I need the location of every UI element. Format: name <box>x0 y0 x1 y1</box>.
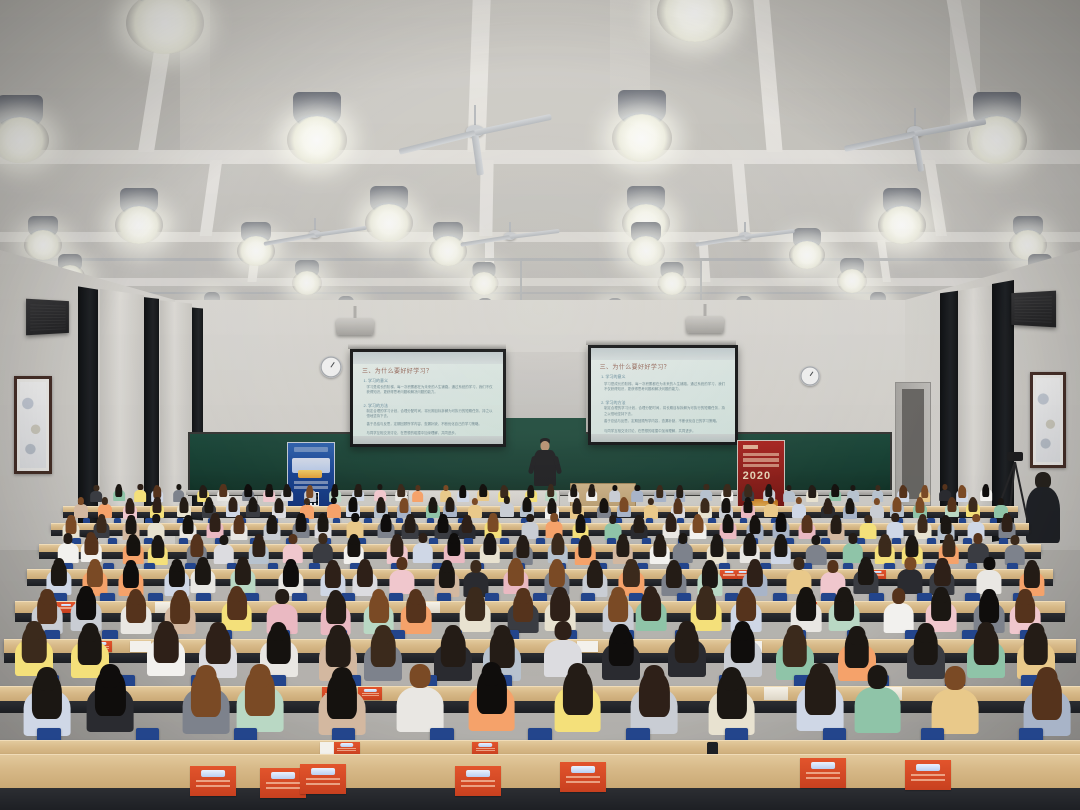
audience-head <box>230 497 236 504</box>
audience-head <box>250 497 256 504</box>
slide-paragraph: 制定合理的学习计划，合理分配时间，将长期目标拆解为可执行的短期任务，持之以恒地坚… <box>367 409 493 420</box>
audience-head <box>40 589 54 605</box>
audience-head <box>908 535 917 546</box>
audience-head <box>171 559 182 572</box>
audience-head <box>864 515 872 524</box>
slide-subtitle: 1. 学习的意义 <box>364 378 388 384</box>
audience-head <box>176 484 181 490</box>
audience-head <box>445 625 462 645</box>
audience-head <box>577 514 585 523</box>
audience-head <box>613 624 630 644</box>
audience-head <box>702 498 708 505</box>
wall-artwork-left <box>14 376 52 474</box>
audience-head <box>589 560 600 573</box>
audience-head <box>626 559 637 572</box>
audience-head <box>667 513 675 522</box>
audience-head <box>874 498 880 505</box>
audience-head <box>153 535 162 546</box>
desk-panel <box>0 701 1080 713</box>
audience-head <box>79 586 93 602</box>
audience-head <box>524 497 530 504</box>
audience-head <box>468 587 482 603</box>
audience-head <box>329 590 343 606</box>
audience-head <box>441 560 452 573</box>
slide-paragraph: 学习是成长的阶梯，每一次积累都在为未来的人生铺路。通过系统的学习，我们不仅获得知… <box>367 385 493 396</box>
slide-title: 三、为什么要好好学习？ <box>362 366 432 375</box>
event-flyer <box>190 766 236 796</box>
audience-head <box>548 484 553 490</box>
audience-head <box>409 589 423 605</box>
audience-head <box>891 513 899 522</box>
audience-head <box>901 485 906 491</box>
slide-right: 三、为什么要好好学习？ 1. 学习的意义 学习是成长的阶梯，每一次积累都在为未来… <box>591 348 735 442</box>
audience-head <box>699 586 713 602</box>
audience-head <box>221 484 226 490</box>
audience-head <box>601 498 607 505</box>
audience-head <box>837 587 851 603</box>
audience-head <box>848 533 857 544</box>
audience-head <box>284 484 289 490</box>
audience-head <box>799 587 813 603</box>
audience-head <box>359 559 370 572</box>
audience-head <box>418 533 427 544</box>
audience-head <box>644 665 665 689</box>
audience-head <box>250 664 271 688</box>
ceiling-fan <box>690 222 800 262</box>
audience-head <box>210 622 227 642</box>
audience-member <box>77 664 144 741</box>
audience-head <box>894 497 900 504</box>
audience-head <box>126 498 132 505</box>
audience-head <box>1037 667 1058 691</box>
audience-head <box>945 666 966 690</box>
audience-head <box>1019 589 1033 605</box>
ceiling-fan <box>395 105 555 165</box>
audience-head <box>138 484 143 490</box>
audience-head <box>949 497 955 504</box>
pendant-lamp <box>600 90 684 152</box>
audience-head <box>983 484 988 490</box>
audience-head <box>725 484 730 490</box>
pendant-lamp <box>868 188 936 240</box>
wall-artwork-right <box>1030 372 1066 468</box>
audience-head <box>1027 623 1044 643</box>
audience-head <box>644 586 658 602</box>
audience-head <box>267 484 272 490</box>
audience-head <box>880 534 889 545</box>
audience-head <box>825 498 831 505</box>
pendant-lamp <box>830 258 874 294</box>
desk-surface <box>0 686 1080 702</box>
audience-head <box>875 485 880 491</box>
audience-head <box>100 664 121 688</box>
audience-head <box>472 498 478 505</box>
lecture-hall-photo: 三、为什么要好好学习？ 1. 学习的意义 学习是成长的阶梯，每一次积累都在为未来… <box>0 0 1080 810</box>
audience-head <box>786 625 803 645</box>
audience-head <box>739 587 753 603</box>
audience-head <box>551 559 562 572</box>
audience-head <box>230 586 244 602</box>
audience-head <box>154 497 160 504</box>
audience-head <box>98 514 106 523</box>
audience-head <box>78 497 84 504</box>
audience-head <box>481 484 486 490</box>
audience-head <box>181 497 187 504</box>
audience-head <box>481 662 502 686</box>
slide-section: 2. 学习的方法 <box>364 403 388 409</box>
audience-head <box>158 621 175 641</box>
audience-head <box>704 484 709 490</box>
audience-head <box>810 663 831 687</box>
audience-head <box>430 497 436 504</box>
audience-head <box>778 513 786 522</box>
audience-head <box>304 498 310 505</box>
audience-member <box>844 665 911 742</box>
audience-head <box>372 589 386 605</box>
chalkboard-center-strip <box>500 418 586 434</box>
audience-head <box>745 497 751 504</box>
audience-head <box>352 513 360 522</box>
slide-paragraph: 善于总结与反思，定期回顾所学内容，查漏补缺，不断优化自己的学习策略。 <box>367 422 493 427</box>
banner-year: 2020 <box>743 470 771 482</box>
slide-title: 三、为什么要好好学习？ <box>600 362 670 371</box>
audience-head <box>796 497 802 504</box>
audience-head <box>236 515 244 524</box>
audience-head <box>850 485 855 491</box>
audience-head <box>922 485 927 491</box>
audience-head <box>219 535 228 546</box>
projection-screen-right: 三、为什么要好好学习？ 1. 学习的意义 学习是成长的阶梯，每一次积累都在为未来… <box>588 345 738 445</box>
audience-head <box>750 559 761 572</box>
audience-head <box>982 589 996 605</box>
audience-head <box>440 514 448 523</box>
audience-head <box>463 515 471 524</box>
pendant-lamp <box>285 260 329 296</box>
pendant-lamp <box>462 262 506 298</box>
audience-head <box>786 485 791 491</box>
audience-head <box>621 497 627 504</box>
wall-clock-left <box>320 356 342 378</box>
audience-head <box>998 498 1004 505</box>
audience-head <box>26 621 43 641</box>
audience-head <box>396 557 407 570</box>
audience-head <box>246 484 251 490</box>
audience-head <box>212 513 220 522</box>
audience-head <box>297 513 305 522</box>
audience-head <box>751 515 759 524</box>
audience-head <box>745 533 754 544</box>
projection-screen-left: 三、为什么要好好学习？ 1. 学习的意义 学习是成长的阶梯，每一次积累都在为未来… <box>350 349 506 447</box>
audience-head <box>581 535 590 546</box>
slide-paragraph: 善于总结与反思，定期回顾所学内容，查漏补缺，不断优化自己的学习策略。 <box>604 419 725 424</box>
audience-head <box>974 533 983 544</box>
audience-head <box>125 560 136 573</box>
audience-head <box>812 535 821 546</box>
audience-head <box>724 514 732 523</box>
audience-head <box>669 560 680 573</box>
audience-head <box>517 588 531 604</box>
ceiling-projector-right <box>686 316 724 333</box>
audience-head <box>721 667 742 691</box>
audience-head <box>318 533 327 544</box>
audience-head <box>567 663 588 687</box>
audience-head <box>618 534 627 545</box>
audience-head <box>401 498 407 505</box>
audience-head <box>678 533 687 544</box>
pendant-lamp <box>650 262 694 298</box>
audience-head <box>450 533 459 544</box>
wall-speaker-left <box>26 299 69 336</box>
audience-head <box>254 534 263 545</box>
audience-head <box>195 665 216 689</box>
desk-row <box>0 686 1080 721</box>
audience-head <box>917 497 923 504</box>
audience-head <box>127 515 135 524</box>
audience-head <box>554 587 568 603</box>
audience-head <box>944 534 953 545</box>
audience-head <box>675 498 681 505</box>
audience-head <box>350 497 356 504</box>
ceiling-fan <box>840 108 990 164</box>
audience-head <box>489 513 497 522</box>
audience-head <box>67 515 75 524</box>
pendant-lamp <box>105 188 173 240</box>
event-flyer <box>800 758 846 788</box>
slide-paragraph: 制定合理的学习计划，合理分配时间，将长期目标拆解为可执行的短期任务，持之以恒地坚… <box>604 406 725 417</box>
audience-head <box>470 560 481 573</box>
audience-head <box>793 557 804 570</box>
ceiling-fan <box>455 222 565 262</box>
audience-head <box>892 588 906 604</box>
audience-head <box>528 485 533 491</box>
audience-head <box>206 497 212 504</box>
audience-head <box>847 498 853 505</box>
audience-head <box>848 626 865 646</box>
audience-head <box>443 485 448 491</box>
audience-head <box>268 515 276 524</box>
audience-head <box>609 515 617 524</box>
ceiling-fan <box>260 218 370 258</box>
audience-head <box>527 514 535 523</box>
audience-head <box>549 498 555 505</box>
pendant-lamp <box>275 92 359 154</box>
audience-torso <box>397 687 444 733</box>
audience-head <box>766 484 771 490</box>
audience-head <box>647 498 653 505</box>
pendant-lamp <box>618 222 674 266</box>
audience-head <box>635 515 643 524</box>
slide-left: 三、为什么要好好学习？ 1. 学习的意义 学习是成长的阶梯，每一次积累都在为未来… <box>353 352 503 444</box>
audience-head <box>917 623 934 643</box>
audience-head <box>198 557 209 570</box>
audience-head <box>919 514 927 523</box>
audience-head <box>410 664 431 688</box>
audience-head <box>383 514 391 523</box>
audience-head <box>550 513 558 522</box>
audience-head <box>984 557 995 570</box>
audience-head <box>275 589 289 605</box>
ceiling-conduit <box>0 292 1080 294</box>
wall-speaker-right <box>1011 291 1056 328</box>
audience-head <box>694 514 702 523</box>
pendant-lamp <box>0 95 60 155</box>
audience-member <box>544 663 611 740</box>
event-flyer <box>455 766 501 796</box>
audience-head <box>574 498 580 505</box>
audience-head <box>447 497 453 504</box>
audience-head <box>723 498 729 505</box>
audience-head <box>94 485 99 491</box>
audience-head <box>827 560 838 573</box>
audience-head <box>349 534 358 545</box>
audience-head <box>1003 513 1011 522</box>
pendant-lamp <box>640 0 750 52</box>
audience-head <box>867 665 888 689</box>
event-flyer <box>905 760 951 790</box>
audience-head <box>152 514 160 523</box>
audience-head <box>503 496 509 503</box>
audience-head <box>288 534 297 545</box>
audience-head <box>553 533 562 544</box>
audience-head <box>502 485 507 491</box>
audience-head <box>415 485 420 491</box>
audience-head <box>832 515 840 524</box>
audience-head <box>319 513 327 522</box>
audience-head <box>332 484 337 490</box>
audience-head <box>978 622 995 642</box>
audience-head <box>276 498 282 505</box>
audience-head <box>937 558 948 571</box>
audience-head <box>330 497 336 504</box>
audience-head <box>589 484 594 490</box>
audience-head <box>81 623 98 643</box>
audience-head <box>810 485 815 491</box>
audience-head <box>905 557 916 570</box>
audience-head <box>571 484 576 490</box>
audience-head <box>393 534 402 545</box>
audience-head <box>102 497 108 504</box>
audience-head <box>485 533 494 544</box>
audience-head <box>356 484 361 490</box>
audience-head <box>286 559 297 572</box>
notebook <box>764 687 788 700</box>
desk-panel <box>0 788 1080 810</box>
audience-head <box>399 484 404 490</box>
audience-head <box>635 485 640 491</box>
audience-head <box>678 621 695 641</box>
audience-torso <box>854 687 901 733</box>
audience-head <box>238 557 249 570</box>
audience-head <box>942 484 947 490</box>
audience-head <box>712 534 721 545</box>
audience-head <box>734 621 751 641</box>
audience-head <box>1026 560 1037 573</box>
audience-head <box>494 625 511 645</box>
audience-head <box>746 484 751 490</box>
audience-head <box>554 621 571 641</box>
wall-clock-right <box>800 366 820 386</box>
audience-head <box>833 484 838 490</box>
audience-head <box>934 587 948 603</box>
audience-head <box>192 534 201 545</box>
ceiling-conduit-drop <box>700 258 702 306</box>
audience-head <box>307 485 312 491</box>
audience-head <box>612 485 617 491</box>
audience-head <box>803 515 811 524</box>
ceiling-projector-left <box>336 318 374 335</box>
audience-head <box>860 557 871 570</box>
slide-subtitle: 1. 学习的意义 <box>601 374 625 380</box>
audience-head <box>460 485 465 491</box>
audience-head <box>330 625 347 645</box>
slide-paragraph: 学习是成长的阶梯，每一次积累都在为未来的人生铺路。通过系统的学习，我们不仅获得知… <box>604 382 725 393</box>
audience-head <box>53 558 64 571</box>
audience-head <box>377 497 383 504</box>
audience-head <box>116 484 121 490</box>
audience-head <box>37 667 58 691</box>
audience-head <box>969 497 975 504</box>
audience-head <box>173 590 187 606</box>
audience-head <box>184 515 192 524</box>
audience-head <box>406 514 414 523</box>
audience-head <box>611 587 625 603</box>
audience-head <box>375 625 392 645</box>
audience-head <box>768 497 774 504</box>
audience-head <box>64 533 73 544</box>
audience-head <box>201 485 206 491</box>
audience-head <box>155 485 160 491</box>
slide-section: 2. 学习的方法 <box>601 400 625 406</box>
audience-member <box>458 662 525 739</box>
audience-head <box>655 534 664 545</box>
audience-head <box>705 560 716 573</box>
audience-head <box>378 484 383 490</box>
audience-head <box>89 559 100 572</box>
audience-head <box>327 560 338 573</box>
audience-head <box>511 558 522 571</box>
audience-head <box>129 534 138 545</box>
audience-head <box>331 667 352 691</box>
audience-head <box>1010 535 1019 546</box>
event-flyer <box>300 764 346 794</box>
audience-head <box>776 534 785 545</box>
audience-head <box>972 514 980 523</box>
audience-head <box>518 535 527 546</box>
audience-head <box>677 485 682 491</box>
audience-head <box>270 622 287 642</box>
pendant-lamp <box>110 0 220 60</box>
audience-head <box>942 515 950 524</box>
event-flyer <box>560 762 606 792</box>
audience-head <box>959 485 964 491</box>
audience-head <box>87 532 96 543</box>
audience-head <box>657 485 662 491</box>
audience-head <box>129 589 143 605</box>
